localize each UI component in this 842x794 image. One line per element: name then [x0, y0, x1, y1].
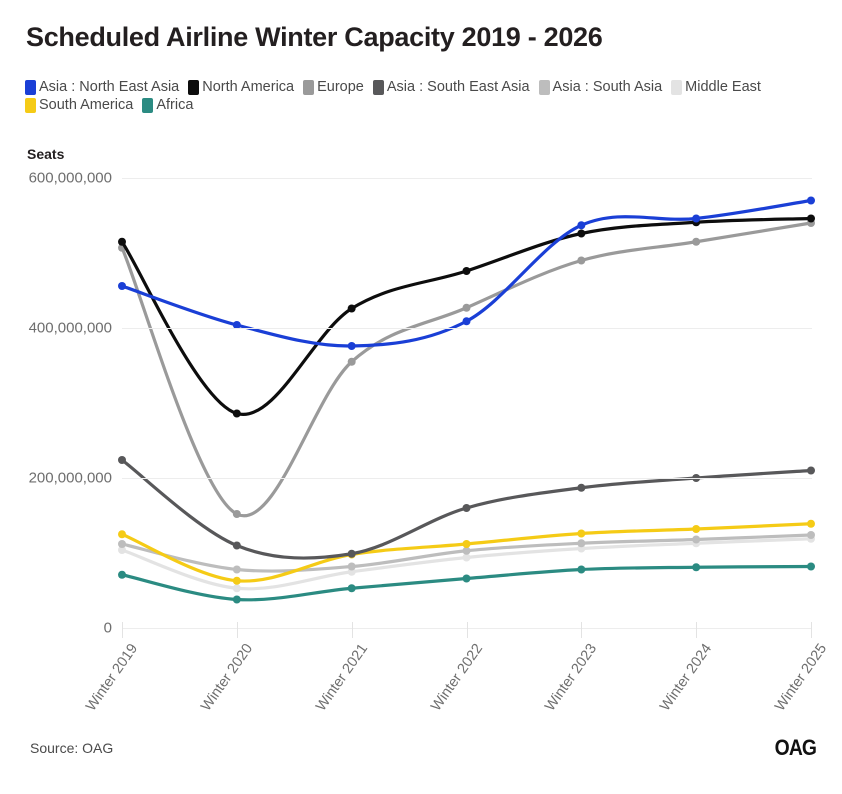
- data-point[interactable]: [348, 342, 356, 350]
- data-point[interactable]: [463, 304, 471, 312]
- x-axis-tick-mark: [122, 622, 123, 638]
- legend-swatch-icon: [373, 80, 384, 95]
- data-point[interactable]: [233, 596, 241, 604]
- data-point[interactable]: [577, 530, 585, 538]
- data-point[interactable]: [348, 563, 356, 571]
- data-point[interactable]: [807, 467, 815, 475]
- data-point[interactable]: [577, 257, 585, 265]
- legend-item[interactable]: Middle East: [671, 80, 761, 95]
- legend-item[interactable]: Europe: [303, 80, 364, 95]
- data-point[interactable]: [118, 456, 126, 464]
- series-north-america: [118, 215, 815, 418]
- x-axis-tick-label: Winter 2021: [313, 641, 371, 714]
- data-point[interactable]: [692, 563, 700, 571]
- data-point[interactable]: [118, 282, 126, 290]
- series-layer: [122, 178, 812, 628]
- series-europe: [118, 219, 815, 518]
- x-axis-tick-label: Winter 2023: [542, 641, 600, 714]
- data-point[interactable]: [577, 566, 585, 574]
- data-point[interactable]: [577, 221, 585, 229]
- source-note: Source: OAG: [30, 740, 113, 756]
- data-point[interactable]: [577, 484, 585, 492]
- chart-container: Scheduled Airline Winter Capacity 2019 -…: [0, 0, 842, 794]
- x-axis-tick-mark: [467, 622, 468, 638]
- data-point[interactable]: [118, 238, 126, 246]
- y-axis-tick-label: 0: [104, 620, 112, 637]
- legend-item-label: South America: [39, 98, 133, 113]
- series-line: [122, 567, 811, 600]
- legend-item[interactable]: Africa: [142, 98, 193, 113]
- x-axis-tick-mark: [811, 622, 812, 638]
- legend-item[interactable]: South America: [25, 98, 133, 113]
- page-title: Scheduled Airline Winter Capacity 2019 -…: [26, 22, 602, 53]
- data-point[interactable]: [692, 536, 700, 544]
- legend-item[interactable]: Asia : South East Asia: [373, 80, 530, 95]
- data-point[interactable]: [807, 531, 815, 539]
- series-line: [122, 219, 811, 415]
- data-point[interactable]: [348, 584, 356, 592]
- y-axis-tick-label: 600,000,000: [29, 170, 112, 187]
- legend-swatch-icon: [188, 80, 199, 95]
- legend-item-label: Europe: [317, 80, 364, 95]
- data-point[interactable]: [233, 410, 241, 418]
- data-point[interactable]: [463, 540, 471, 548]
- data-point[interactable]: [233, 542, 241, 550]
- data-point[interactable]: [577, 230, 585, 238]
- data-point[interactable]: [807, 520, 815, 528]
- x-axis-tick-label: Winter 2019: [83, 641, 141, 714]
- data-point[interactable]: [233, 584, 241, 592]
- oag-logo: OAG: [775, 735, 816, 761]
- legend-swatch-icon: [25, 80, 36, 95]
- legend-item[interactable]: Asia : South Asia: [539, 80, 663, 95]
- y-gridline: [122, 178, 812, 179]
- legend-item-label: North America: [202, 80, 294, 95]
- data-point[interactable]: [807, 563, 815, 571]
- legend-swatch-icon: [142, 98, 153, 113]
- data-point[interactable]: [348, 358, 356, 366]
- plot-area: 0200,000,000400,000,000600,000,000Winter…: [122, 178, 812, 628]
- y-axis-title: Seats: [27, 146, 64, 162]
- data-point[interactable]: [118, 530, 126, 538]
- data-point[interactable]: [118, 540, 126, 548]
- data-point[interactable]: [463, 267, 471, 275]
- data-point[interactable]: [692, 238, 700, 246]
- data-point[interactable]: [118, 571, 126, 579]
- data-point[interactable]: [463, 575, 471, 583]
- legend-swatch-icon: [303, 80, 314, 95]
- x-axis-tick-label: Winter 2022: [428, 641, 486, 714]
- legend-item[interactable]: Asia : North East Asia: [25, 80, 179, 95]
- data-point[interactable]: [233, 510, 241, 518]
- data-point[interactable]: [463, 504, 471, 512]
- data-point[interactable]: [692, 215, 700, 223]
- legend-item-label: Asia : South Asia: [553, 80, 663, 95]
- legend-item-label: Africa: [156, 98, 193, 113]
- legend-item-label: Asia : South East Asia: [387, 80, 530, 95]
- y-axis-tick-label: 400,000,000: [29, 320, 112, 337]
- legend-item-label: Middle East: [685, 80, 761, 95]
- data-point[interactable]: [348, 305, 356, 313]
- x-axis-tick-label: Winter 2020: [198, 641, 256, 714]
- x-axis-tick-label: Winter 2024: [657, 641, 715, 714]
- data-point[interactable]: [807, 197, 815, 205]
- x-axis-tick-mark: [352, 622, 353, 638]
- data-point[interactable]: [463, 317, 471, 325]
- legend-swatch-icon: [671, 80, 682, 95]
- legend-swatch-icon: [25, 98, 36, 113]
- data-point[interactable]: [807, 215, 815, 223]
- x-axis-tick-mark: [237, 622, 238, 638]
- x-axis-tick-mark: [696, 622, 697, 638]
- data-point[interactable]: [577, 539, 585, 547]
- x-axis-tick-mark: [581, 622, 582, 638]
- legend-item-label: Asia : North East Asia: [39, 80, 179, 95]
- data-point[interactable]: [348, 550, 356, 558]
- x-axis-tick-label: Winter 2025: [772, 641, 830, 714]
- series-line: [122, 223, 811, 516]
- data-point[interactable]: [692, 525, 700, 533]
- y-axis-tick-label: 200,000,000: [29, 470, 112, 487]
- chart-legend: Asia : North East AsiaNorth AmericaEurop…: [25, 80, 815, 116]
- legend-item[interactable]: North America: [188, 80, 294, 95]
- y-gridline: [122, 328, 812, 329]
- legend-swatch-icon: [539, 80, 550, 95]
- data-point[interactable]: [233, 566, 241, 574]
- y-gridline: [122, 478, 812, 479]
- data-point[interactable]: [233, 577, 241, 585]
